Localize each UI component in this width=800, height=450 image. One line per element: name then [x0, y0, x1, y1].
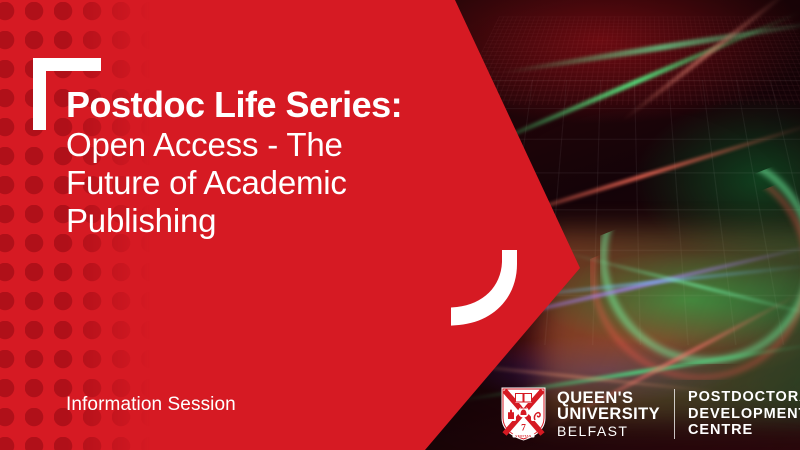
title-line-1: Postdoc Life Series:	[66, 84, 466, 126]
centre-name-line-2: DEVELOPMENT	[688, 406, 800, 423]
university-name: QUEEN'S UNIVERSITY BELFAST	[557, 390, 660, 439]
crest-motto: VERITAS	[515, 434, 531, 438]
svg-text:7: 7	[521, 424, 526, 434]
page-title: Postdoc Life Series: Open Access - The F…	[66, 84, 466, 241]
event-promo-poster: Postdoc Life Series: Open Access - The F…	[0, 0, 800, 450]
university-name-line-2: UNIVERSITY	[557, 406, 660, 423]
bracket-vertical-bar	[33, 58, 46, 130]
centre-name: POSTDOCTORAL DEVELOPMENT CENTRE	[688, 389, 800, 439]
title-line-3: Future of Academic	[66, 164, 466, 202]
logo-lockup: 7 VERITAS QUEEN'S UNIVERSITY BELFAST POS…	[500, 386, 800, 442]
title-line-2: Open Access - The	[66, 126, 466, 164]
university-name-line-1: QUEEN'S	[557, 390, 660, 407]
logo-divider	[674, 389, 675, 439]
centre-name-line-3: CENTRE	[688, 422, 800, 439]
centre-name-line-1: POSTDOCTORAL	[688, 389, 800, 406]
university-name-line-3: BELFAST	[557, 424, 660, 438]
title-line-4: Publishing	[66, 202, 466, 240]
queens-university-belfast-crest-icon: 7 VERITAS	[500, 386, 547, 442]
curved-quote-swoosh-icon	[451, 250, 523, 328]
event-type-label: Information Session	[66, 394, 236, 416]
